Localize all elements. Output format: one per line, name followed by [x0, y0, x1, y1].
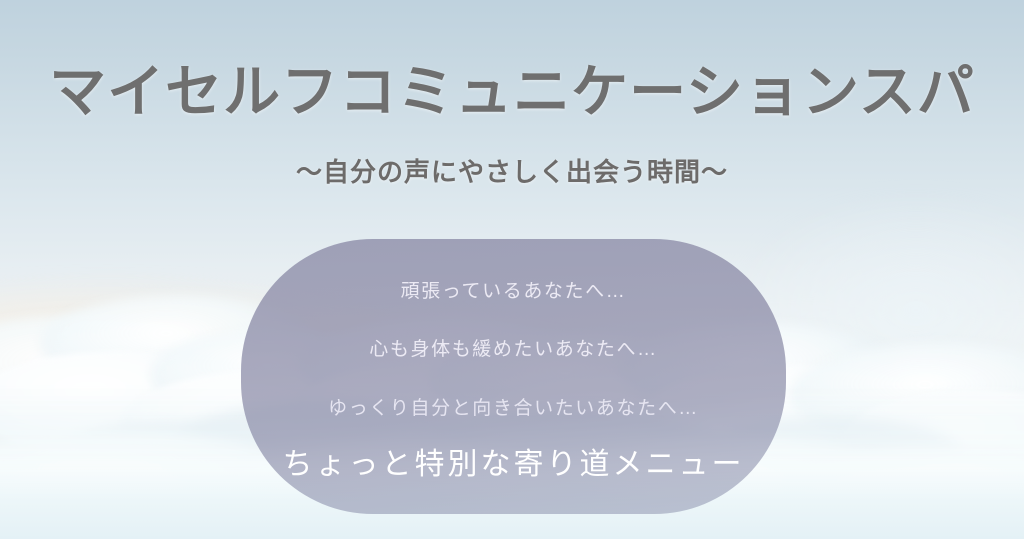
- message-line: 頑張っているあなたへ…: [241, 277, 786, 306]
- message-panel: 頑張っているあなたへ… 心も身体も緩めたいあなたへ… ゆっくり自分と向き合いたい…: [241, 239, 786, 514]
- message-line: 心も身体も緩めたいあなたへ…: [241, 335, 786, 364]
- hero-banner: マイセルフコミュニケーションスパ 〜自分の声にやさしく出会う時間〜 頑張っている…: [0, 0, 1024, 539]
- message-highlight: ちょっと特別な寄り道メニュー: [241, 445, 786, 484]
- title-block: マイセルフコミュニケーションスパ 〜自分の声にやさしく出会う時間〜: [0, 62, 1024, 189]
- message-line: ゆっくり自分と向き合いたいあなたへ…: [241, 394, 786, 423]
- page-subtitle: 〜自分の声にやさしく出会う時間〜: [0, 152, 1024, 189]
- message-panel-content: 頑張っているあなたへ… 心も身体も緩めたいあなたへ… ゆっくり自分と向き合いたい…: [241, 239, 786, 514]
- page-title: マイセルフコミュニケーションスパ: [0, 62, 1024, 124]
